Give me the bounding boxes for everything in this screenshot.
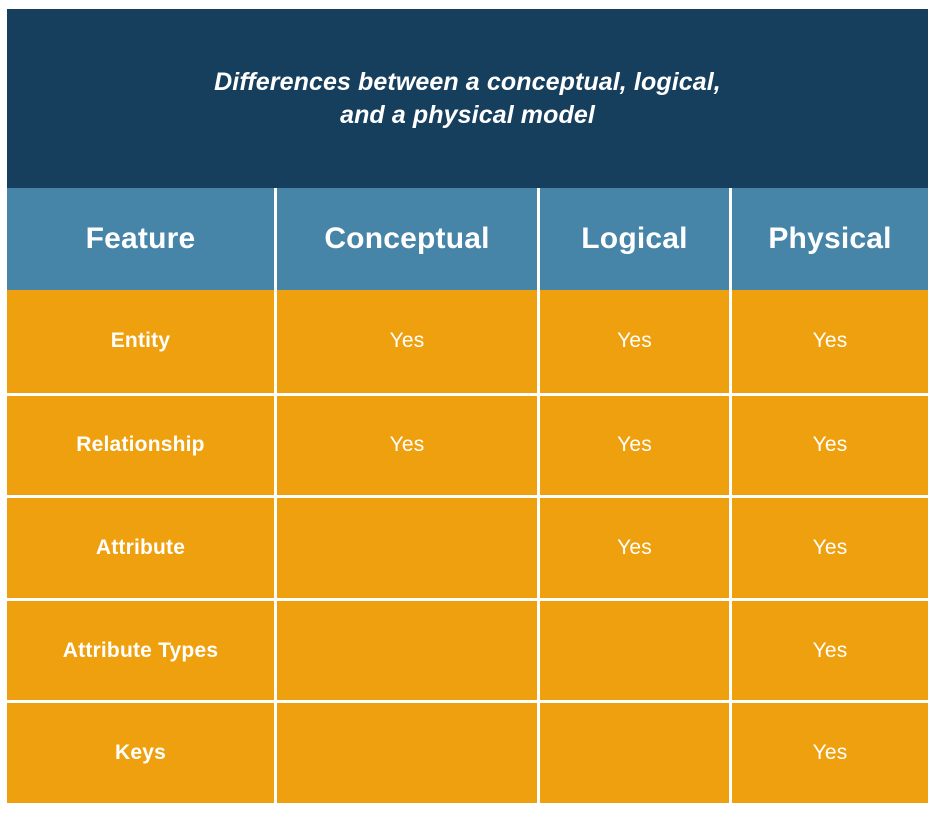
page-title: Differences between a conceptual, logica… xyxy=(154,66,781,132)
column-header-physical-label: Physical xyxy=(768,222,891,256)
row-label-cell: Relationship xyxy=(7,396,274,496)
row-label: Attribute xyxy=(96,536,185,560)
cell-logical: Yes xyxy=(537,396,729,496)
row-label: Relationship xyxy=(76,433,204,457)
cell-logical: Yes xyxy=(537,498,729,598)
cell-logical: Yes xyxy=(537,290,729,393)
column-header-conceptual: Conceptual xyxy=(274,188,537,290)
cell-value: Yes xyxy=(813,536,848,560)
table-header-row: Feature Conceptual Logical Physical xyxy=(7,188,928,290)
cell-value: Yes xyxy=(617,329,652,353)
cell-conceptual xyxy=(274,703,537,803)
page-canvas: Differences between a conceptual, logica… xyxy=(0,0,937,813)
cell-value: Yes xyxy=(390,433,425,457)
column-header-logical-label: Logical xyxy=(581,222,687,256)
cell-conceptual: Yes xyxy=(274,290,537,393)
table-row: Attribute Types Yes xyxy=(7,598,928,701)
cell-conceptual xyxy=(274,601,537,701)
table-row: Attribute Yes Yes xyxy=(7,495,928,598)
cell-value: Yes xyxy=(813,433,848,457)
cell-value: Yes xyxy=(813,329,848,353)
column-header-feature-label: Feature xyxy=(86,222,196,256)
cell-value: Yes xyxy=(390,329,425,353)
column-header-feature: Feature xyxy=(7,188,274,290)
cell-physical: Yes xyxy=(729,498,928,598)
cell-physical: Yes xyxy=(729,703,928,803)
row-label-cell: Keys xyxy=(7,703,274,803)
row-label-cell: Attribute Types xyxy=(7,601,274,701)
cell-physical: Yes xyxy=(729,601,928,701)
cell-conceptual xyxy=(274,498,537,598)
cell-value: Yes xyxy=(813,741,848,765)
cell-value: Yes xyxy=(813,639,848,663)
cell-logical xyxy=(537,601,729,701)
cell-conceptual: Yes xyxy=(274,396,537,496)
cell-value: Yes xyxy=(617,433,652,457)
cell-physical: Yes xyxy=(729,396,928,496)
row-label-cell: Attribute xyxy=(7,498,274,598)
cell-logical xyxy=(537,703,729,803)
table-row: Entity Yes Yes Yes xyxy=(7,290,928,393)
row-label: Entity xyxy=(111,329,171,353)
cell-value: Yes xyxy=(617,536,652,560)
column-header-physical: Physical xyxy=(729,188,928,290)
table-row: Relationship Yes Yes Yes xyxy=(7,393,928,496)
row-label: Keys xyxy=(115,741,166,765)
column-header-conceptual-label: Conceptual xyxy=(324,222,489,256)
column-header-logical: Logical xyxy=(537,188,729,290)
row-label-cell: Entity xyxy=(7,290,274,393)
comparison-table: Differences between a conceptual, logica… xyxy=(7,9,928,803)
row-label: Attribute Types xyxy=(63,639,218,663)
table-row: Keys Yes xyxy=(7,700,928,803)
cell-physical: Yes xyxy=(729,290,928,393)
table-title-band: Differences between a conceptual, logica… xyxy=(7,9,928,188)
